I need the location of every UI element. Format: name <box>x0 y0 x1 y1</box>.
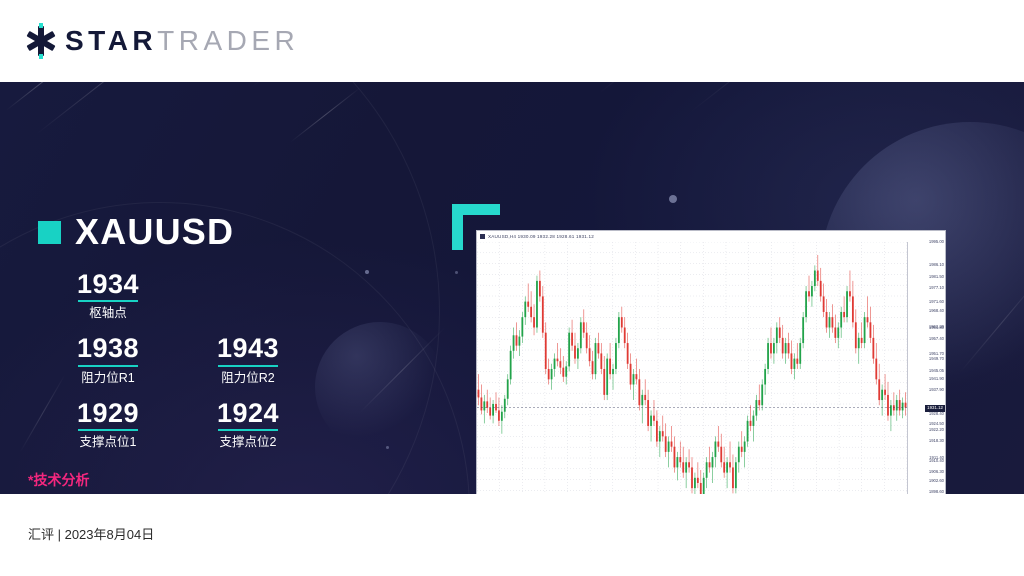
price-tick-label: 1961.80 <box>929 326 944 330</box>
chart-symbol-icon <box>480 234 485 239</box>
price-tick-label: 1902.60 <box>929 479 944 483</box>
chart-title: XAUUSD,H4 1930.09 1932.28 1928.61 1931.1… <box>488 234 594 239</box>
brand-name-light: TRADER <box>157 25 299 56</box>
price-tick-label: 1986.10 <box>929 263 944 267</box>
price-tick-label: 1957.40 <box>929 337 944 341</box>
price-tick-label: 1918.30 <box>929 439 944 443</box>
level-value: 1943 <box>178 334 318 362</box>
level-caption: 阻力位R1 <box>38 371 178 386</box>
page-header: STARTRADER <box>0 0 1024 82</box>
square-marker-icon <box>38 221 61 244</box>
level-caption: 阻力位R2 <box>178 371 318 386</box>
page-footer: 汇评 | 2023年8月04日 <box>0 494 1024 576</box>
level-caption: 支撑点位1 <box>38 435 178 450</box>
price-tick-label: 1995.00 <box>929 240 944 244</box>
level-pivot: 1934 枢轴点 <box>38 270 178 321</box>
price-axis[interactable]: 1995.001986.101981.501977.101971.601968.… <box>907 242 945 494</box>
price-tick-label: 1928.40 <box>929 412 944 416</box>
streak-decoration <box>690 82 856 113</box>
dot-decoration <box>455 271 458 274</box>
price-tick-label: 1971.60 <box>929 300 944 304</box>
price-tick-label: 1945.05 <box>929 369 944 373</box>
price-tick-label: 1949.70 <box>929 357 944 361</box>
price-tick-label: 1977.10 <box>929 286 944 290</box>
price-tick-label: 1968.40 <box>929 309 944 313</box>
level-value: 1929 <box>38 399 178 427</box>
level-caption: 枢轴点 <box>38 306 178 321</box>
dot-decoration <box>669 195 677 203</box>
footer-caption: 汇评 | 2023年8月04日 <box>28 524 154 543</box>
price-tick-label: 1906.30 <box>929 470 944 474</box>
asterisk-star-icon <box>24 24 58 58</box>
level-value: 1938 <box>38 334 178 362</box>
level-underline <box>218 429 278 431</box>
dot-decoration <box>386 446 389 449</box>
pivot-levels: 1934 枢轴点 1938 阻力位R1 1943 阻力位R2 1929 支撑点位… <box>38 270 338 463</box>
streak-decoration <box>600 82 719 93</box>
level-resistance-1: 1938 阻力位R1 <box>38 334 178 385</box>
brand-logo: STARTRADER <box>24 24 299 58</box>
level-caption: 支撑点位2 <box>178 435 318 450</box>
price-tick-label: 1937.90 <box>929 388 944 392</box>
price-tick-label: 1941.90 <box>929 377 944 381</box>
price-chart[interactable]: XAUUSD,H4 1930.09 1932.28 1928.61 1931.1… <box>476 230 946 494</box>
main-stage: XAUUSD 1934 枢轴点 1938 阻力位R1 1943 阻力位R2 <box>0 82 1024 494</box>
candlestick-series <box>477 242 907 494</box>
price-tick-label: 1924.50 <box>929 422 944 426</box>
technical-analysis-title: *技术分析 <box>28 470 428 490</box>
chart-title-bar: XAUUSD,H4 1930.09 1932.28 1928.61 1931.1… <box>477 231 945 242</box>
price-tick-label: 1922.20 <box>929 428 944 432</box>
logo-accent-top <box>39 23 43 28</box>
chart-plot-area[interactable] <box>477 242 907 494</box>
level-underline <box>78 429 138 431</box>
level-resistance-2: 1943 阻力位R2 <box>178 334 318 385</box>
technical-analysis: *技术分析 多头持仓在枢轴点以上，目标位为阻力位R1及阻力位R2。 若低于枢轴点… <box>28 470 428 494</box>
level-underline <box>218 365 278 367</box>
level-underline <box>78 365 138 367</box>
brand-wordmark: STARTRADER <box>65 27 299 55</box>
symbol-heading: XAUUSD <box>38 214 234 250</box>
logo-accent-bottom <box>39 54 43 59</box>
price-tick-label: 1981.50 <box>929 275 944 279</box>
level-support-1: 1929 支撑点位1 <box>38 399 178 450</box>
level-underline <box>78 300 138 302</box>
page-title: XAUUSD <box>75 214 234 250</box>
level-value: 1924 <box>178 399 318 427</box>
dot-decoration <box>365 270 369 274</box>
price-tick-label: 1910.40 <box>929 459 944 463</box>
brand-name-bold: STAR <box>65 25 157 56</box>
level-value: 1934 <box>38 270 178 298</box>
level-support-2: 1924 支撑点位2 <box>178 399 318 450</box>
